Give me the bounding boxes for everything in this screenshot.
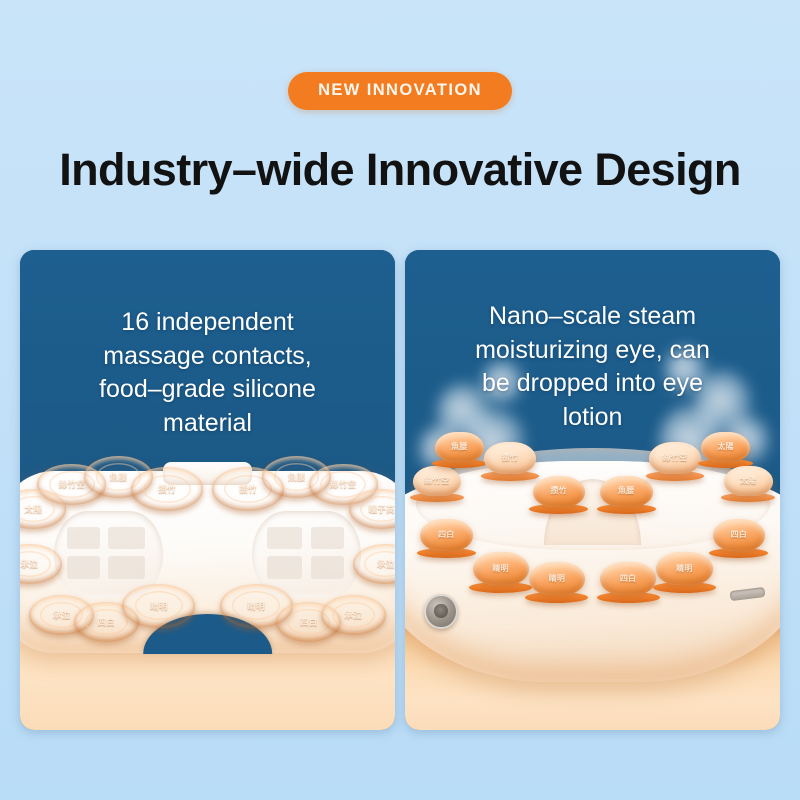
lens-grid-bar <box>267 556 302 579</box>
panel-caption-right: Nano–scale steam moisturizing eye, can b… <box>405 250 780 434</box>
caption-line: massage contacts, <box>46 340 369 374</box>
contact-label: 魚腰 <box>618 487 635 495</box>
massage-contact: 魚腰 <box>435 432 484 468</box>
feature-panel-right: 絲竹空 魚腰 攒竹 攒竹 魚腰 絲竹空 <box>405 250 780 730</box>
contact-label: 絲竹空 <box>663 454 688 462</box>
feature-panels: 絲竹空 魚腰 攒竹 攒竹 魚腰 絲竹空 太陽 <box>20 250 780 730</box>
lens-grid-bar <box>108 527 145 550</box>
contact-label: 攒竹 <box>502 454 519 462</box>
contact-label: 睛明 <box>247 602 265 611</box>
contact-label: 太陽 <box>740 477 757 485</box>
caption-line: food–grade silicone <box>46 373 369 407</box>
massage-contact: 四白 <box>420 519 473 558</box>
badge-row: NEW INNOVATION <box>0 72 800 110</box>
contact-label: 絲竹空 <box>424 477 449 485</box>
caption-line: moisturizing eye, can <box>431 334 754 368</box>
lens-grid-bar <box>311 556 344 579</box>
contact-label: 太陽 <box>717 443 734 451</box>
massage-contact: 睛明 <box>529 562 585 603</box>
massage-contact: 瞳子高 <box>349 489 395 529</box>
power-button[interactable] <box>424 594 457 629</box>
massage-contact: 承泣 <box>321 595 386 635</box>
massage-contact: 太陽 <box>701 432 750 468</box>
contact-label: 瞳子高 <box>368 505 394 514</box>
contact-label: 絲竹空 <box>330 480 356 489</box>
massage-contact: 睛明 <box>122 584 195 628</box>
massage-contact: 攒竹 <box>533 476 586 514</box>
contact-label: 承泣 <box>53 611 71 620</box>
contact-label: 四白 <box>730 531 747 539</box>
contact-label: 四白 <box>438 531 455 539</box>
contact-label: 四白 <box>620 575 637 583</box>
caption-line: be dropped into eye <box>431 367 754 401</box>
contact-label: 睛明 <box>676 565 693 573</box>
contact-label: 承泣 <box>21 560 39 569</box>
contact-label: 攒竹 <box>158 485 176 494</box>
contact-label: 睛明 <box>549 575 566 583</box>
panel-caption-left: 16 independent massage contacts, food–gr… <box>20 250 395 440</box>
caption-line: material <box>46 407 369 441</box>
contact-label: 絲竹空 <box>59 480 85 489</box>
contact-label: 承泣 <box>345 611 363 620</box>
eye-massager-device: 絲竹空 魚腰 攒竹 攒竹 魚腰 絲竹空 太陽 <box>20 471 395 653</box>
contact-label: 魚腰 <box>288 473 306 482</box>
contact-label: 太陽 <box>25 505 43 514</box>
massage-contact: 睛明 <box>656 552 712 593</box>
lens-grid-bar <box>311 527 344 550</box>
contact-label: 魚腰 <box>110 473 128 482</box>
feature-panel-left: 絲竹空 魚腰 攒竹 攒竹 魚腰 絲竹空 太陽 <box>20 250 395 730</box>
lens-grid-bar <box>267 527 302 550</box>
lens-grid-bar <box>67 527 100 550</box>
caption-line: lotion <box>431 401 754 435</box>
usb-charging-port <box>729 587 765 601</box>
contact-label: 承泣 <box>377 560 395 569</box>
lens-grid-bar <box>108 556 145 579</box>
massage-contact: 攒竹 <box>484 442 537 481</box>
new-innovation-badge: NEW INNOVATION <box>288 72 512 110</box>
contact-label: 攒竹 <box>239 485 257 494</box>
lens-grid-bar <box>67 556 100 579</box>
massage-contact: 絲竹空 <box>649 442 702 481</box>
contact-label: 睛明 <box>150 602 168 611</box>
massage-contact: 攒竹 <box>131 467 204 511</box>
caption-line: 16 independent <box>46 306 369 340</box>
massage-contact: 魚腰 <box>600 476 653 514</box>
massage-contact: 四白 <box>713 519 766 558</box>
massage-contact: 四白 <box>600 562 656 603</box>
massage-contact: 太陽 <box>724 466 773 502</box>
massage-contact: 睛明 <box>473 552 529 593</box>
caption-line: Nano–scale steam <box>431 300 754 334</box>
page-title: Industry–wide Innovative Design <box>0 144 800 196</box>
contact-label: 睛明 <box>492 565 509 573</box>
contact-label: 攒竹 <box>550 487 567 495</box>
contact-label: 四白 <box>300 618 318 627</box>
massage-contact: 絲竹空 <box>413 466 462 502</box>
contact-label: 四白 <box>97 618 115 627</box>
contact-label: 魚腰 <box>451 443 468 451</box>
